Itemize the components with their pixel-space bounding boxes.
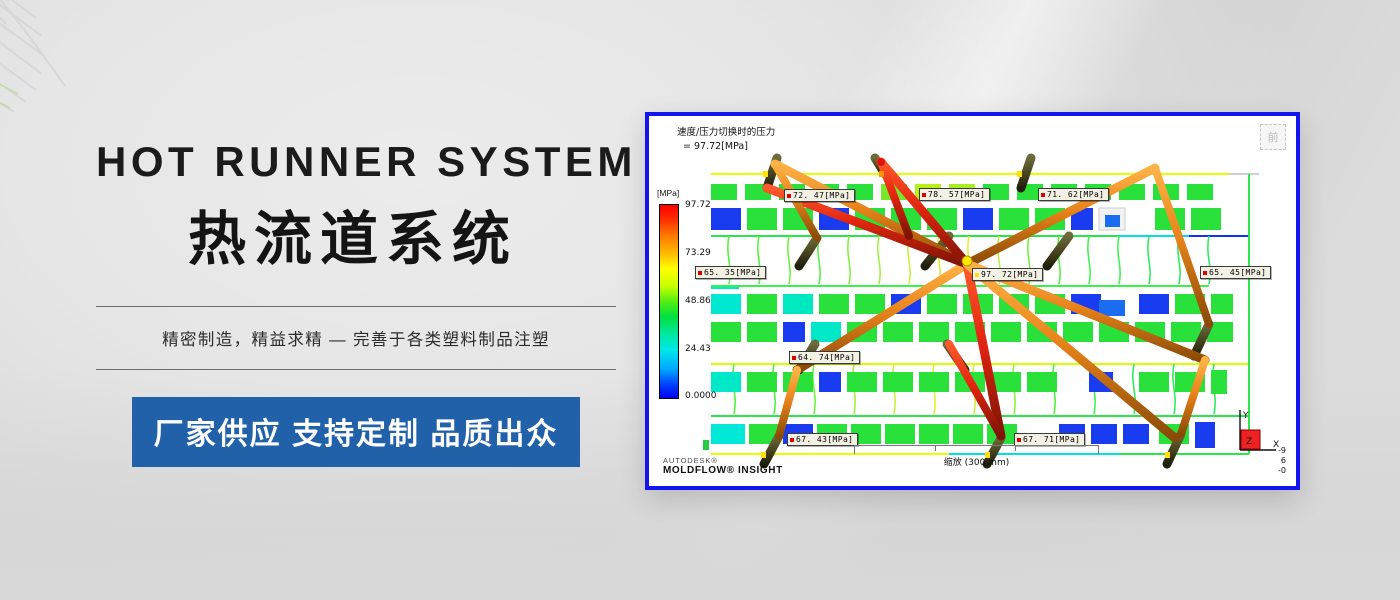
view-orientation-button[interactable]: 前 <box>1260 124 1286 150</box>
colorbar-tick-0: 97.72 <box>685 200 711 210</box>
svg-text:Y: Y <box>1242 411 1249 421</box>
banner-subtitle: 精密制造，精益求精 — 完善于各类塑料制品注塑 <box>96 307 616 369</box>
pressure-contour-plot <box>649 116 1296 486</box>
scale-bar-line <box>854 445 1099 454</box>
pressure-callout-2[interactable]: 78. 57[MPa] <box>919 188 990 201</box>
plot-title-line2: = 97.72[MPa] <box>677 141 748 152</box>
banner-text-block: HOT RUNNER SYSTEM 热流道系统 精密制造，精益求精 — 完善于各… <box>96 140 616 467</box>
svg-text:Z: Z <box>1246 437 1252 447</box>
pressure-callout-center[interactable]: 97. 72[MPa] <box>972 268 1043 281</box>
colorbar-tick-3: 24.43 <box>685 344 711 354</box>
colorbar-tick-4: 0.0000 <box>685 391 717 401</box>
axis-value-0: -9 <box>1278 446 1286 456</box>
axis-value-1: 6 <box>1278 456 1286 466</box>
moldflow-simulation-panel[interactable]: 速度/压力切换时的压力 = 97.72[MPa] 前 [MPa] 97.72 7… <box>645 112 1300 490</box>
pressure-callout-1[interactable]: 72. 47[MPa] <box>784 189 855 202</box>
pressure-callout-3[interactable]: 71. 62[MPa] <box>1038 188 1109 201</box>
simulation-viewport[interactable]: 速度/压力切换时的压力 = 97.72[MPa] 前 [MPa] 97.72 7… <box>649 116 1296 486</box>
axis-values: -9 6 -0 <box>1278 446 1286 476</box>
brand-autodesk-label: AUTODESK® <box>663 457 783 465</box>
colorbar-gradient <box>659 204 679 399</box>
axis-triad: Y X Z -9 6 -0 <box>1230 404 1288 478</box>
scale-bar: 缩放 (300 mm) <box>854 445 1099 468</box>
colorbar-tick-2: 48.86 <box>685 296 711 306</box>
page-title-english: HOT RUNNER SYSTEM <box>96 140 616 184</box>
pressure-callout-7[interactable]: 67. 43[MPa] <box>787 433 858 446</box>
axis-value-2: -0 <box>1278 466 1286 476</box>
brand-product-label: MOLDFLOW® INSIGHT <box>663 465 783 476</box>
colorbar-unit-label: [MPa] <box>657 188 729 198</box>
colorbar-tick-1: 73.29 <box>685 248 711 258</box>
autodesk-branding: AUTODESK® MOLDFLOW® INSIGHT <box>663 457 783 476</box>
pressure-colorbar: [MPa] 97.72 73.29 48.86 24.43 0.0000 <box>655 188 729 198</box>
pressure-callout-4[interactable]: 65. 35[MPa] <box>695 266 766 279</box>
pressure-callout-6[interactable]: 64. 74[MPa] <box>789 351 860 364</box>
plot-title: 速度/压力切换时的压力 = 97.72[MPa] <box>677 126 775 154</box>
autodesk-mark <box>703 440 709 450</box>
pressure-callout-5[interactable]: 65. 45[MPa] <box>1200 266 1271 279</box>
plot-title-line1: 速度/压力切换时的压力 <box>677 127 775 138</box>
promo-badge[interactable]: 厂家供应 支持定制 品质出众 <box>132 397 581 467</box>
scale-bar-label: 缩放 (300 mm) <box>854 455 1099 468</box>
page-title-chinese: 热流道系统 <box>96 208 616 272</box>
